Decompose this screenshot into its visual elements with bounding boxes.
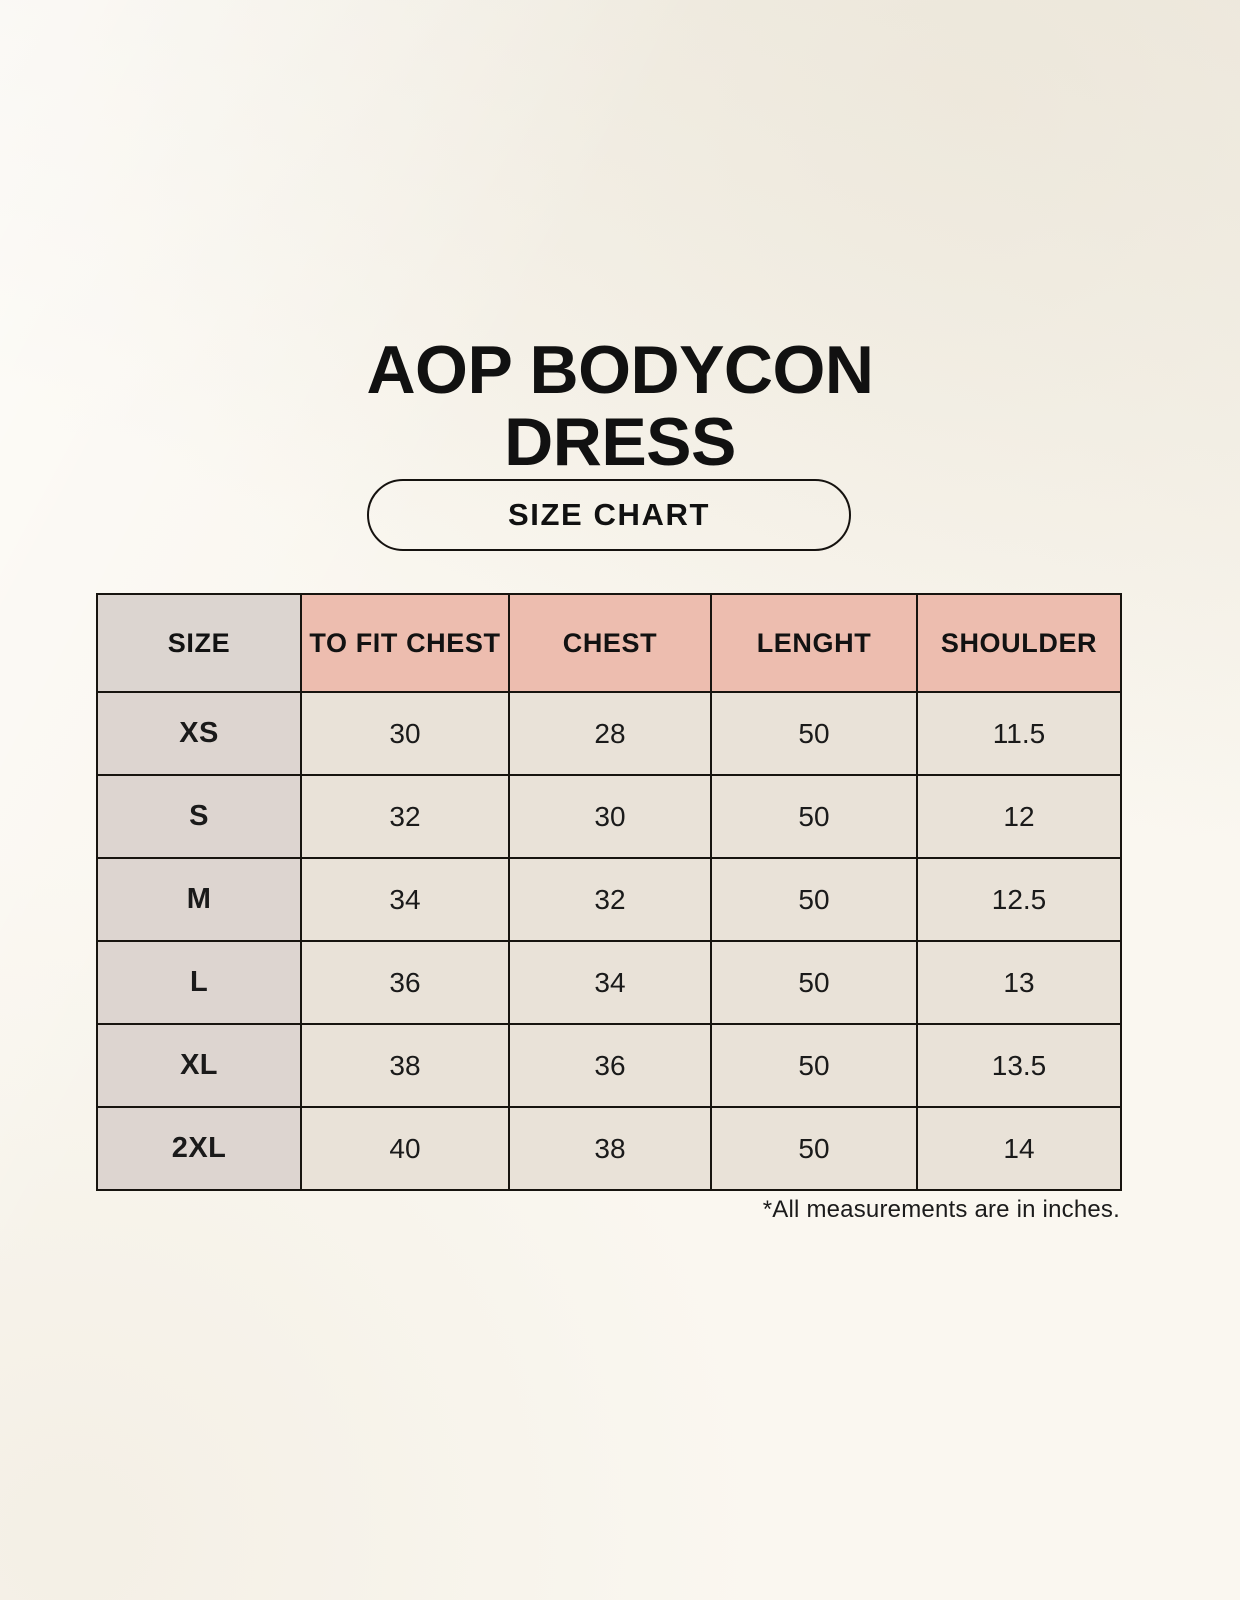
cell-chest: 30 — [509, 775, 711, 858]
table-row: XS 30 28 50 11.5 — [97, 692, 1121, 775]
column-header-lenght: LENGHT — [711, 594, 917, 692]
cell-chest: 34 — [509, 941, 711, 1024]
cell-to-fit-chest: 30 — [301, 692, 509, 775]
cell-chest: 38 — [509, 1107, 711, 1190]
cell-to-fit-chest: 36 — [301, 941, 509, 1024]
column-header-shoulder: SHOULDER — [917, 594, 1121, 692]
table-header-row: SIZE TO FIT CHEST CHEST LENGHT SHOULDER — [97, 594, 1121, 692]
table-row: S 32 30 50 12 — [97, 775, 1121, 858]
table-row: L 36 34 50 13 — [97, 941, 1121, 1024]
cell-chest: 32 — [509, 858, 711, 941]
cell-size: XL — [97, 1024, 301, 1107]
cell-shoulder: 11.5 — [917, 692, 1121, 775]
column-header-chest: CHEST — [509, 594, 711, 692]
table-row: M 34 32 50 12.5 — [97, 858, 1121, 941]
cell-lenght: 50 — [711, 1107, 917, 1190]
column-header-to-fit-chest: TO FIT CHEST — [301, 594, 509, 692]
cell-to-fit-chest: 32 — [301, 775, 509, 858]
cell-size: L — [97, 941, 301, 1024]
cell-lenght: 50 — [711, 775, 917, 858]
page-title: AOP BODYCON DRESS — [0, 334, 1240, 478]
table-row: 2XL 40 38 50 14 — [97, 1107, 1121, 1190]
cell-to-fit-chest: 34 — [301, 858, 509, 941]
cell-to-fit-chest: 40 — [301, 1107, 509, 1190]
cell-shoulder: 14 — [917, 1107, 1121, 1190]
size-chart-badge-label: SIZE CHART — [508, 497, 710, 533]
cell-chest: 28 — [509, 692, 711, 775]
size-chart-page: AOP BODYCON DRESS SIZE CHART SIZE TO FIT… — [0, 0, 1240, 1600]
cell-shoulder: 13.5 — [917, 1024, 1121, 1107]
cell-size: S — [97, 775, 301, 858]
size-chart-badge: SIZE CHART — [367, 479, 851, 551]
cell-size: 2XL — [97, 1107, 301, 1190]
size-chart-table: SIZE TO FIT CHEST CHEST LENGHT SHOULDER … — [96, 593, 1122, 1191]
cell-lenght: 50 — [711, 858, 917, 941]
cell-shoulder: 12 — [917, 775, 1121, 858]
cell-shoulder: 13 — [917, 941, 1121, 1024]
column-header-size: SIZE — [97, 594, 301, 692]
cell-lenght: 50 — [711, 941, 917, 1024]
cell-size: XS — [97, 692, 301, 775]
cell-size: M — [97, 858, 301, 941]
cell-lenght: 50 — [711, 1024, 917, 1107]
cell-shoulder: 12.5 — [917, 858, 1121, 941]
cell-chest: 36 — [509, 1024, 711, 1107]
measurements-footnote: *All measurements are in inches. — [763, 1196, 1120, 1224]
cell-lenght: 50 — [711, 692, 917, 775]
cell-to-fit-chest: 38 — [301, 1024, 509, 1107]
table-row: XL 38 36 50 13.5 — [97, 1024, 1121, 1107]
